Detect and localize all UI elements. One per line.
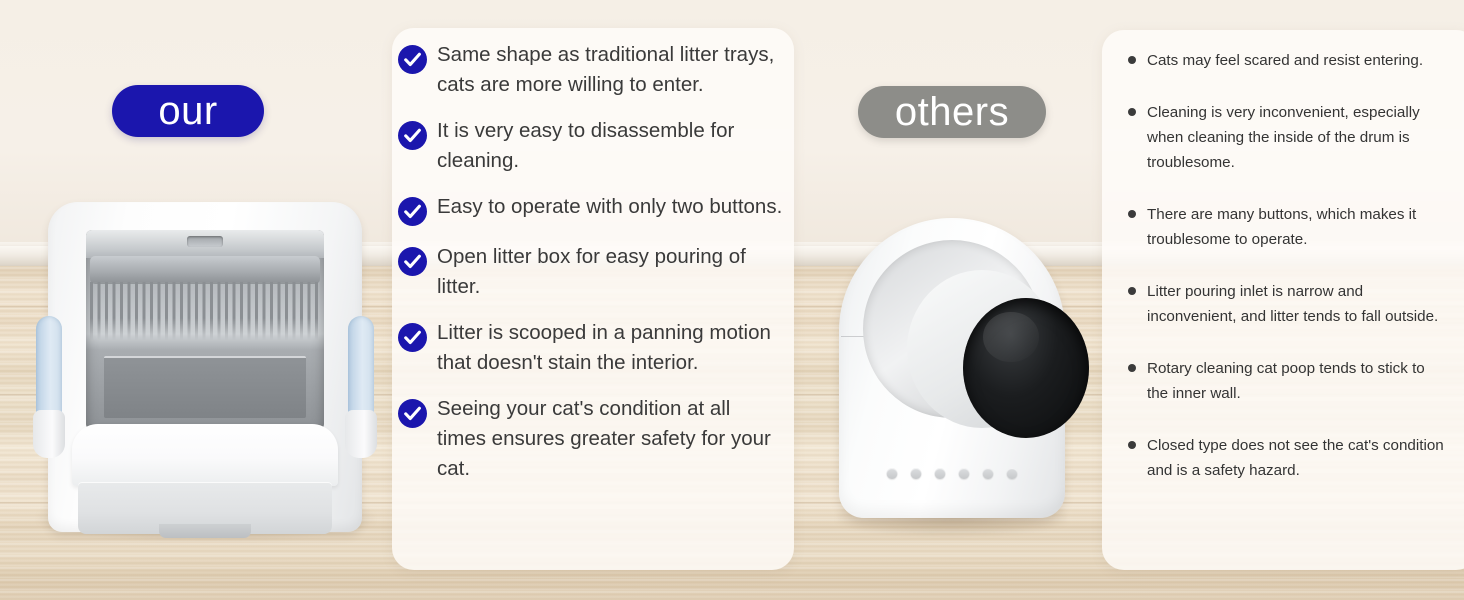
- drum-button[interactable]: [911, 468, 922, 479]
- check-circle-icon: [398, 45, 427, 74]
- cons-item-text: Cats may feel scared and resist entering…: [1147, 48, 1423, 73]
- cons-item-text: Litter pouring inlet is narrow and incon…: [1147, 279, 1447, 329]
- side-cap-left: [33, 410, 65, 458]
- list-item: Litter is scooped in a panning motion th…: [398, 318, 790, 378]
- list-item: Open litter box for easy pouring of litt…: [398, 242, 790, 302]
- bullet-dot-icon: [1128, 108, 1136, 116]
- pros-item-text: Easy to operate with only two buttons.: [437, 192, 782, 222]
- badge-our: our: [112, 85, 264, 137]
- comparison-infographic: our others Same shape as traditional lit…: [0, 0, 1464, 600]
- drum-button[interactable]: [887, 468, 898, 479]
- side-cap-right: [345, 410, 377, 458]
- badge-others: others: [858, 86, 1046, 138]
- cons-item-text: There are many buttons, which makes it t…: [1147, 202, 1447, 252]
- litter-tray-drawer: [78, 482, 332, 534]
- cons-list: Cats may feel scared and resist entering…: [1128, 48, 1458, 510]
- check-circle-icon: [398, 399, 427, 428]
- drum-button[interactable]: [1007, 468, 1018, 479]
- pros-item-text: Same shape as traditional litter trays, …: [437, 40, 783, 100]
- list-item: Litter pouring inlet is narrow and incon…: [1128, 279, 1458, 329]
- list-item: There are many buttons, which makes it t…: [1128, 202, 1458, 252]
- check-circle-icon: [398, 197, 427, 226]
- drum-button[interactable]: [959, 468, 970, 479]
- bullet-dot-icon: [1128, 210, 1136, 218]
- litter-tray-front-lip: [72, 424, 338, 486]
- list-item: Same shape as traditional litter trays, …: [398, 40, 790, 100]
- list-item: Cats may feel scared and resist entering…: [1128, 48, 1458, 73]
- cons-item-text: Cleaning is very inconvenient, especiall…: [1147, 100, 1447, 175]
- rake-comb-teeth: [90, 282, 320, 340]
- bullet-dot-icon: [1128, 287, 1136, 295]
- pros-list: Same shape as traditional litter trays, …: [398, 40, 790, 500]
- bullet-dot-icon: [1128, 441, 1136, 449]
- list-item: Closed type does not see the cat's condi…: [1128, 433, 1458, 483]
- check-circle-icon: [398, 323, 427, 352]
- bullet-dot-icon: [1128, 364, 1136, 372]
- drum-outer-ring: [863, 240, 1041, 418]
- drum-button-row: [887, 468, 1018, 479]
- cons-item-text: Closed type does not see the cat's condi…: [1147, 433, 1447, 483]
- list-item: Cleaning is very inconvenient, especiall…: [1128, 100, 1458, 175]
- list-item: It is very easy to disassemble for clean…: [398, 116, 790, 176]
- cavity-handle: [187, 236, 223, 247]
- bullet-dot-icon: [1128, 56, 1136, 64]
- rake-roller: [90, 256, 320, 284]
- cavity-top-bar: [86, 230, 324, 258]
- inner-pan: [104, 356, 306, 418]
- product-image-others: [833, 218, 1071, 530]
- check-circle-icon: [398, 121, 427, 150]
- drawer-notch: [159, 524, 251, 538]
- list-item: Seeing your cat's condition at all times…: [398, 394, 790, 484]
- drum-button[interactable]: [983, 468, 994, 479]
- pros-item-text: Open litter box for easy pouring of litt…: [437, 242, 783, 302]
- pros-item-text: Seeing your cat's condition at all times…: [437, 394, 783, 484]
- check-circle-icon: [398, 247, 427, 276]
- cons-item-text: Rotary cleaning cat poop tends to stick …: [1147, 356, 1447, 406]
- list-item: Rotary cleaning cat poop tends to stick …: [1128, 356, 1458, 406]
- drum-button[interactable]: [935, 468, 946, 479]
- list-item: Easy to operate with only two buttons.: [398, 192, 790, 226]
- pros-item-text: Litter is scooped in a panning motion th…: [437, 318, 783, 378]
- pros-item-text: It is very easy to disassemble for clean…: [437, 116, 783, 176]
- drum-entry-hole: [963, 298, 1089, 438]
- litter-tray-cavity: [86, 230, 324, 430]
- product-image-ours: [30, 196, 380, 548]
- drum-inner-ring: [907, 270, 1057, 428]
